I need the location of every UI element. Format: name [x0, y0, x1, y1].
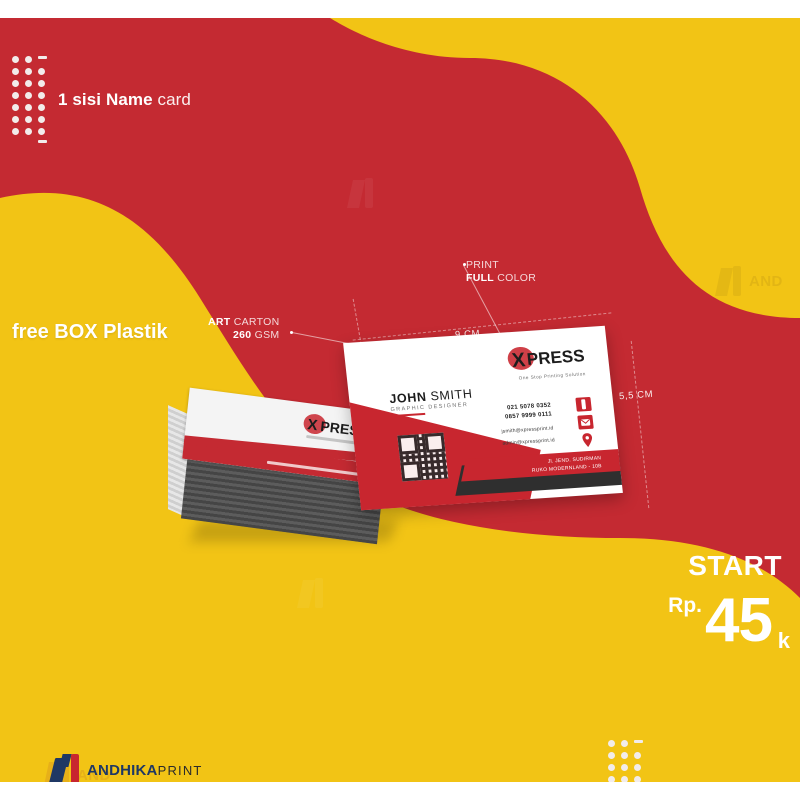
price-amount: 45 [705, 590, 772, 652]
price-start-label: START [688, 550, 782, 582]
material-weight-light: GSM [251, 329, 279, 341]
product-title: 1 sisi Name card [58, 90, 191, 110]
promo-poster: AND AND [0, 0, 800, 800]
svg-text:X: X [307, 416, 319, 434]
card-name-block: JOHN SMITH GRAPHIC DESIGNER [389, 387, 475, 417]
qr-finder-bottom-left [400, 461, 421, 481]
qr-code [397, 433, 448, 482]
material-bold: ART [208, 316, 230, 328]
print-line-1: PRINT [466, 259, 536, 272]
price-unit: k [778, 628, 790, 654]
yellow-shape-top-right [330, 18, 800, 318]
qr-finder-top-right [424, 433, 445, 453]
svg-text:PRESS: PRESS [526, 346, 586, 369]
location-pin-icon [581, 433, 593, 448]
annotation-material: ART CARTON 260 GSM [208, 316, 279, 342]
material-weight-bold: 260 [233, 329, 251, 341]
brand-name-light: PRINT [158, 763, 203, 778]
andhika-mark-icon [52, 754, 80, 782]
card-contact-block: 021 5078 0352 0857 9999 0111 jsmith@xpre… [498, 401, 555, 448]
brand-name: ANDHIKAPRINT [87, 762, 203, 779]
dot-grid-top-left [12, 56, 47, 149]
print-line-2: FULL COLOR [466, 272, 536, 285]
product-title-light: card [153, 90, 191, 109]
business-card-front: Jl. JEND. SUDIRMAN RUKO MODERNLAND - 10B… [343, 326, 623, 510]
card-email-1: jsmith@xpressprint.id [501, 425, 554, 436]
xpress-logo-icon: X PRESS [504, 339, 585, 376]
material-light: CARTON [230, 316, 279, 328]
card-phone-2: 0857 9999 0111 [499, 411, 552, 424]
card-contact-icons [575, 397, 593, 430]
product-title-bold: 1 sisi Name [58, 90, 153, 109]
material-line-2: 260 GSM [208, 329, 279, 342]
brand-logo: ANDHIKAPRINT [52, 754, 203, 782]
brand-name-bold: ANDHIKA [87, 762, 158, 779]
mail-icon [577, 415, 593, 430]
poster-canvas: AND AND [0, 18, 800, 782]
dot-grid-bottom-right [608, 740, 643, 782]
free-box-label: free BOX Plastik [12, 321, 168, 344]
person-last-name: SMITH [430, 387, 473, 404]
price-currency: Rp. [668, 594, 702, 618]
print-light: COLOR [494, 272, 536, 284]
annotation-print: PRINT FULL COLOR [466, 259, 536, 285]
qr-finder-top-left [397, 434, 418, 454]
price-block: START Rp. 45 k [640, 550, 790, 680]
phone-icon [575, 397, 591, 412]
material-line-1: ART CARTON [208, 316, 279, 329]
person-first-name: JOHN [389, 389, 432, 406]
